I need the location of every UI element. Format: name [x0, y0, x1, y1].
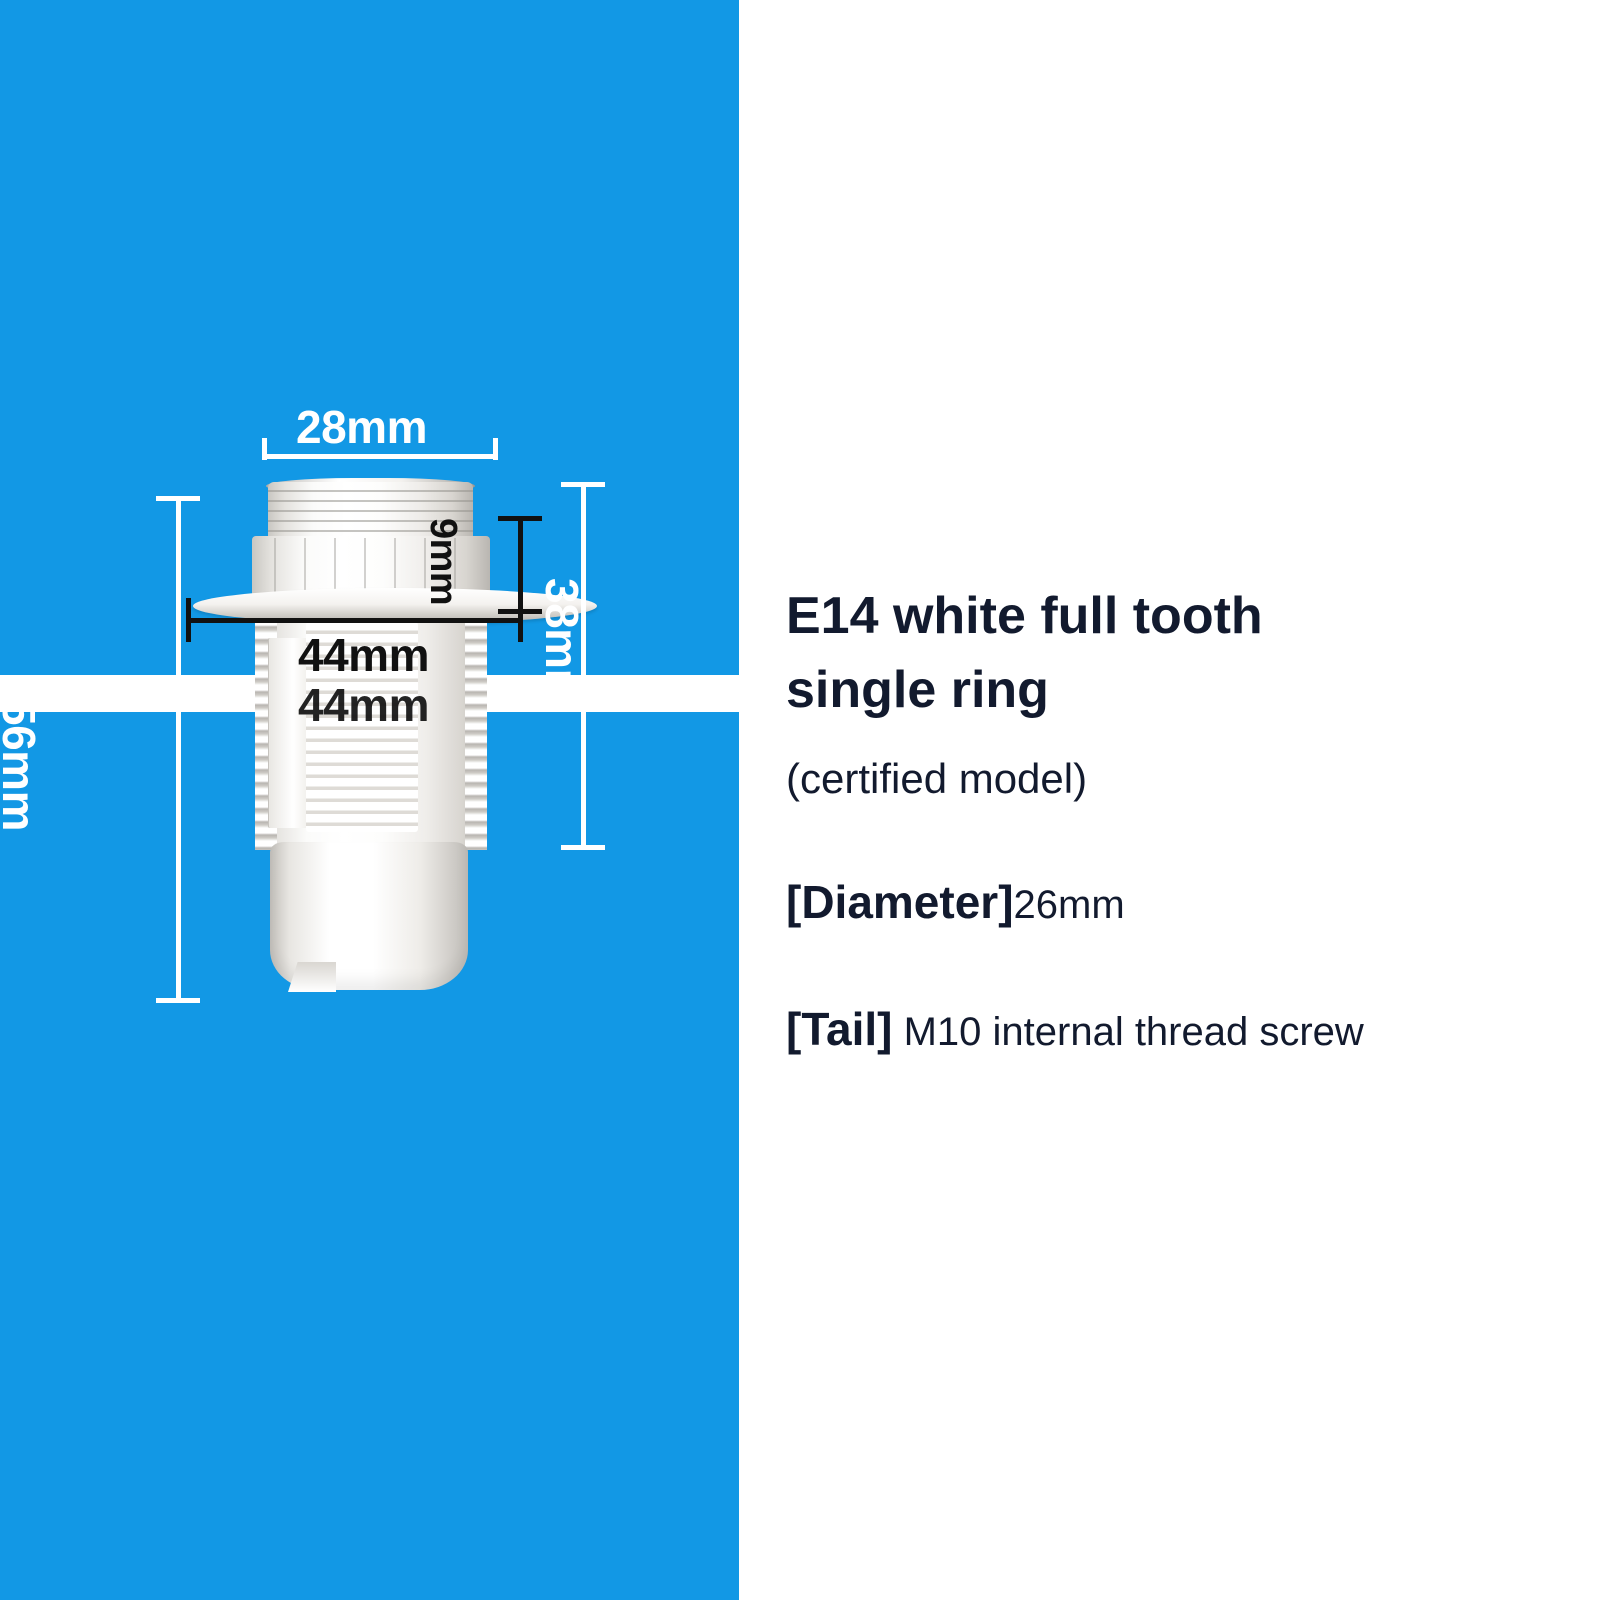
dimension-label-38mm: 38mm	[535, 578, 589, 709]
dimension-line-28mm	[262, 454, 498, 459]
product-title-line-2: single ring	[786, 654, 1586, 728]
dimension-cap-44mm-left	[186, 598, 191, 642]
spec-value-diameter: 26mm	[1014, 883, 1125, 927]
dimension-line-44mm	[186, 618, 523, 623]
dimension-cap-56mm-top	[156, 496, 200, 501]
dimension-label-28mm: 28mm	[296, 400, 427, 454]
product-spec-panel: E14 white full tooth single ring (certif…	[786, 580, 1586, 1061]
spec-value-tail: M10 internal thread screw	[892, 1010, 1363, 1054]
dimension-cap-38mm-top	[561, 482, 605, 487]
product-title-line-1: E14 white full tooth	[786, 580, 1586, 654]
lamp-holder-product-image	[230, 470, 560, 1010]
product-image-canvas: 28mm 56mm 38mm 9mm 44mm 44mm E14 white f…	[0, 0, 1600, 1600]
dimension-cap-28mm-right	[493, 438, 498, 460]
product-subtitle: (certified model)	[786, 750, 1586, 809]
dimension-label-56mm: 56mm	[0, 700, 46, 831]
dimension-line-56mm	[176, 498, 181, 1002]
spec-key-tail: [Tail]	[786, 1003, 892, 1055]
dimension-cap-44mm-right	[518, 598, 523, 642]
dimension-cap-9mm-top	[498, 516, 542, 521]
dimension-cap-56mm-bottom	[156, 998, 200, 1003]
dimension-label-44mm: 44mm	[298, 628, 429, 682]
dimension-label-9mm: 9mm	[421, 518, 464, 605]
dimension-cap-38mm-bottom	[561, 845, 605, 850]
barrel-tooth-right	[465, 620, 487, 850]
spec-key-diameter: [Diameter]	[786, 876, 1014, 928]
dimension-label-44mm-duplicate: 44mm	[298, 678, 429, 732]
dimension-cap-28mm-left	[262, 438, 267, 460]
spec-row-diameter: [Diameter]26mm	[786, 870, 1586, 934]
spec-row-tail: [Tail] M10 internal thread screw	[786, 997, 1586, 1061]
